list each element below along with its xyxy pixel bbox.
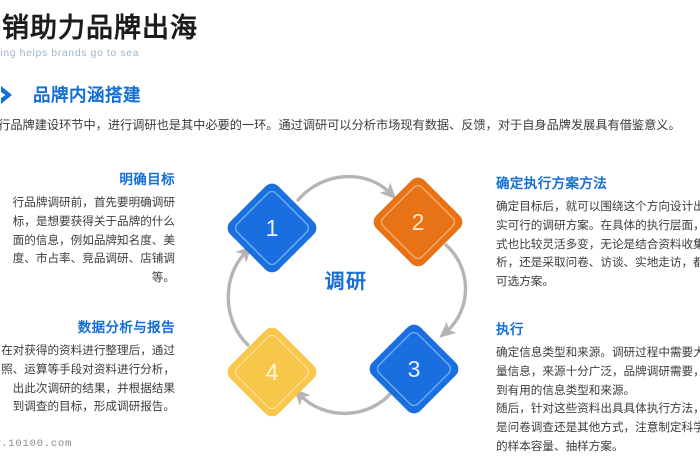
column-top-left: 明确目标 行品牌调研前，首先要明确调研 标，是想要获得关于品牌的什么 面的信息，… <box>0 168 175 288</box>
body-line: 标，是想要获得关于品牌的什么 <box>0 213 175 232</box>
column-bottom-left: 数据分析与报告 在对获得的资料进行整理后，通过 照、运算等手段对资料进行分析， … <box>0 316 175 417</box>
column-heading: 数据分析与报告 <box>0 316 175 336</box>
arrow-2-to-3 <box>446 245 466 332</box>
body-line: 度、市占率、竞品调研、店铺调 <box>0 250 175 269</box>
double-chevron-right-icon <box>0 85 24 105</box>
body-line: 式也比较灵活多变，无论是结合资料收集 <box>496 236 700 255</box>
body-line: 出此次调研的结果，并根据结果 <box>0 380 175 399</box>
page-title: 营销助力品牌出海 <box>0 14 494 44</box>
body-line: 实可行的调研方案。在具体的执行层面， <box>496 217 700 236</box>
cycle-diagram: 1 2 3 4 调研 <box>196 160 496 430</box>
arrow-4-to-1 <box>228 252 248 345</box>
slide-page: 营销助力品牌出海 arketing helps brands go to sea… <box>0 0 700 470</box>
body-line: 在对获得的资料进行整理后，通过 <box>0 342 175 361</box>
column-body: 在对获得的资料进行整理后，通过 照、运算等手段对资料进行分析， 出此次调研的结果… <box>0 342 175 417</box>
body-line: 析，还是采取问卷、访谈、实地走访，都 <box>496 254 700 273</box>
body-line: 可选方案。 <box>496 273 700 292</box>
column-top-right: 确定执行方案方法 确定目标后，就可以围绕这个方向设计出 实可行的调研方案。在具体… <box>496 172 700 292</box>
diagram-node-2-number: 2 <box>412 209 425 235</box>
section-title-text: 品牌内涵搭建 <box>33 82 141 107</box>
body-line: 的样本容量、抽样方案。 <box>496 438 700 457</box>
body-line: 等。 <box>0 269 175 288</box>
body-line: 到有用的信息类型和来源。 <box>496 382 700 401</box>
intro-paragraph: 进行品牌建设环节中，进行调研也是其中必要的一环。通过调研可以分析市场现有数据、反… <box>0 116 700 134</box>
diagram-node-3-number: 3 <box>408 356 421 382</box>
body-line: 面的信息，例如品牌知名度、美 <box>0 232 175 251</box>
body-line: 随后，针对这些资料出具具体执行方法， <box>496 400 700 419</box>
column-heading: 明确目标 <box>0 168 175 188</box>
arrow-3-to-4 <box>300 392 392 413</box>
diagram-node-1-number: 1 <box>266 215 279 241</box>
column-heading: 执行 <box>496 318 700 338</box>
body-line: 量信息，来源十分广泛，品牌调研需要， <box>496 363 700 382</box>
footer-url: ww.10100.com <box>0 438 72 450</box>
page-subtitle: arketing helps brands go to sea <box>0 47 494 59</box>
body-line: 照、运算等手段对资料进行分析， <box>0 361 175 380</box>
body-line: 是问卷调查还是其他方式，注意制定科学 <box>496 419 700 438</box>
body-line: 确定目标后，就可以围绕这个方向设计出 <box>496 198 700 217</box>
diagram-node-4-number: 4 <box>266 359 279 385</box>
column-bottom-right: 执行 确定信息类型和来源。调研过程中需要大 量信息，来源十分广泛，品牌调研需要，… <box>496 318 700 457</box>
body-line: 行品牌调研前，首先要明确调研 <box>0 194 175 213</box>
body-line: 确定信息类型和来源。调研过程中需要大 <box>496 344 700 363</box>
page-header: 营销助力品牌出海 arketing helps brands go to sea <box>0 14 494 59</box>
section-heading: 品牌内涵搭建 <box>0 82 141 107</box>
arrow-1-to-2 <box>298 177 390 200</box>
column-body: 确定信息类型和来源。调研过程中需要大 量信息，来源十分广泛，品牌调研需要， 到有… <box>496 344 700 457</box>
column-heading: 确定执行方案方法 <box>496 172 700 192</box>
column-body: 确定目标后，就可以围绕这个方向设计出 实可行的调研方案。在具体的执行层面， 式也… <box>496 198 700 292</box>
body-line: 到调查的目标，形成调研报告。 <box>0 398 175 417</box>
column-body: 行品牌调研前，首先要明确调研 标，是想要获得关于品牌的什么 面的信息，例如品牌知… <box>0 194 175 288</box>
